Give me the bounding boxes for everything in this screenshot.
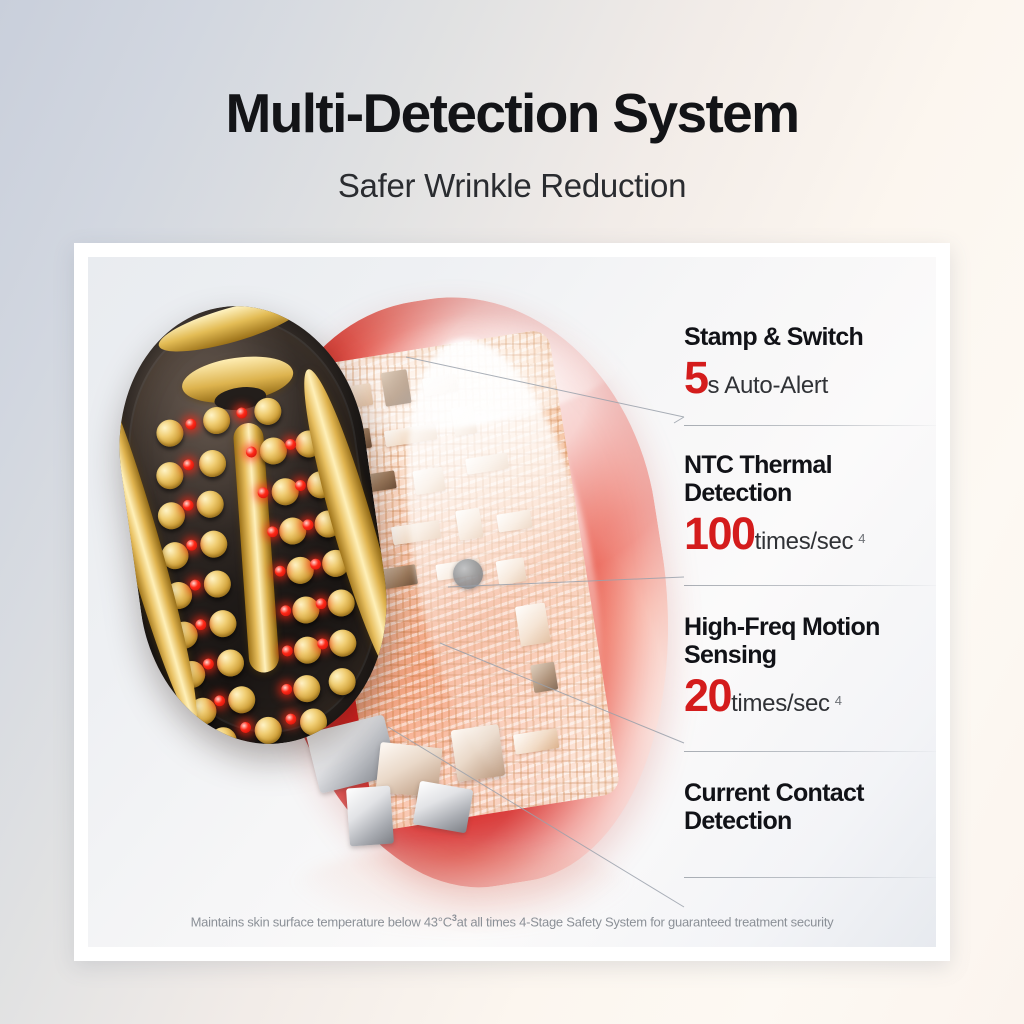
callout-title: Current Contact Detection <box>684 779 936 835</box>
footer-disclaimer: Maintains skin surface temperature below… <box>88 913 936 929</box>
callout-ntc-thermal: NTC Thermal Detection 100times/sec4 <box>684 451 936 556</box>
callout-high-freq-motion: High-Freq Motion Sensing 20times/sec4 <box>684 613 936 718</box>
callout-value-number: 5 <box>684 352 708 403</box>
callout-value-unit: times/sec <box>731 690 830 717</box>
callout-value: 100times/sec4 <box>684 511 936 556</box>
callout-stamp-switch: Stamp & Switch 5s Auto-Alert <box>684 323 936 400</box>
page-header: Multi-Detection System Safer Wrinkle Red… <box>0 86 1024 202</box>
callout-value-number: 100 <box>684 508 755 559</box>
ntc-thermal-sensor <box>453 559 483 589</box>
internal-metal-part <box>346 786 394 847</box>
callout-title: NTC Thermal Detection <box>684 451 936 507</box>
callout-divider <box>684 425 936 426</box>
callout-current-contact: Current Contact Detection <box>684 779 936 835</box>
footer-text-before: Maintains skin surface temperature below… <box>191 914 452 929</box>
callout-divider <box>684 751 936 752</box>
product-image <box>116 275 696 915</box>
callout-value-unit: times/sec <box>755 528 854 555</box>
callout-title: High-Freq Motion Sensing <box>684 613 936 669</box>
internal-metal-part <box>413 781 474 834</box>
infographic-panel: Stamp & Switch 5s Auto-Alert NTC Thermal… <box>88 257 936 947</box>
page-title: Multi-Detection System <box>0 86 1024 141</box>
page-subtitle: Safer Wrinkle Reduction <box>0 169 1024 202</box>
callout-divider <box>684 585 936 586</box>
callout-value: 5s Auto-Alert <box>684 355 936 400</box>
callout-value: 20times/sec4 <box>684 673 936 718</box>
callout-list: Stamp & Switch 5s Auto-Alert NTC Thermal… <box>684 257 936 947</box>
callout-value-unit: s Auto-Alert <box>708 372 828 399</box>
infographic-panel-frame: Stamp & Switch 5s Auto-Alert NTC Thermal… <box>74 243 950 961</box>
callout-divider <box>684 877 936 878</box>
footer-text-after: at all times 4-Stage Safety System for g… <box>457 914 834 929</box>
callout-value-number: 20 <box>684 670 731 721</box>
callout-footnote-marker: 4 <box>858 531 865 546</box>
callout-footnote-marker: 4 <box>835 693 842 708</box>
callout-title: Stamp & Switch <box>684 323 936 351</box>
